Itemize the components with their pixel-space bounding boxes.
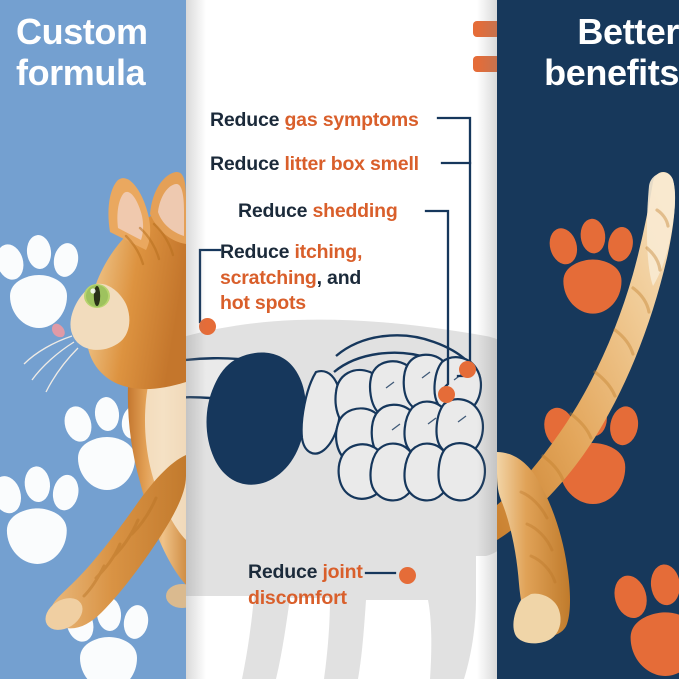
callout-scratching-highlight: scratching: [220, 267, 317, 289]
paw-print-icon: [610, 563, 679, 676]
callout-gas-highlight: gas symptoms: [284, 109, 418, 131]
callout-itching-prefix: Reduce: [220, 241, 289, 263]
equals-bar-bottom: [473, 56, 497, 72]
paw-print-icon: [546, 218, 636, 314]
callout-itching-highlight: itching,: [294, 241, 362, 263]
callout-discomfort-highlight: discomfort: [248, 587, 347, 609]
callout-itching-and: , and: [317, 267, 362, 289]
marker-joint: [399, 567, 416, 584]
callout-joint: Reduce joint discomfort: [248, 560, 398, 611]
marker-skin-coat: [199, 318, 216, 335]
callout-shedding: Reduce shedding: [238, 199, 398, 223]
callout-gas: Reduce gas symptoms: [210, 108, 419, 132]
connector-itching: [200, 250, 220, 322]
left-panel-artwork: [0, 0, 186, 679]
callout-hotspots-highlight: hot spots: [220, 292, 306, 314]
marker-gut-upper: [459, 361, 476, 378]
paw-print-icon: [0, 234, 81, 328]
right-panel: Betterbenefits: [497, 0, 679, 679]
paw-print-icon: [0, 465, 81, 564]
callout-gas-prefix: Reduce: [210, 109, 279, 131]
infographic-root: Customformula: [0, 0, 679, 679]
left-panel: Customformula: [0, 0, 186, 679]
marker-gut-lower: [438, 386, 455, 403]
callout-litter-highlight: litter box smell: [284, 153, 418, 175]
left-heading: Customformula: [16, 12, 186, 93]
center-panel: Reduce gas symptoms Reduce litter box sm…: [186, 0, 497, 679]
callout-joint-highlight: joint: [322, 561, 362, 583]
right-heading: Betterbenefits: [513, 12, 679, 93]
callout-itching: Reduce itching, scratching, and hot spot…: [220, 240, 430, 317]
connector-gas: [438, 118, 470, 376]
callout-litter-prefix: Reduce: [210, 153, 279, 175]
callout-joint-prefix: Reduce: [248, 561, 317, 583]
callout-litter: Reduce litter box smell: [210, 152, 419, 176]
right-panel-artwork: [497, 0, 679, 679]
callout-shedding-highlight: shedding: [312, 200, 397, 222]
equals-bar-top: [473, 21, 497, 37]
callout-shedding-prefix: Reduce: [238, 200, 307, 222]
